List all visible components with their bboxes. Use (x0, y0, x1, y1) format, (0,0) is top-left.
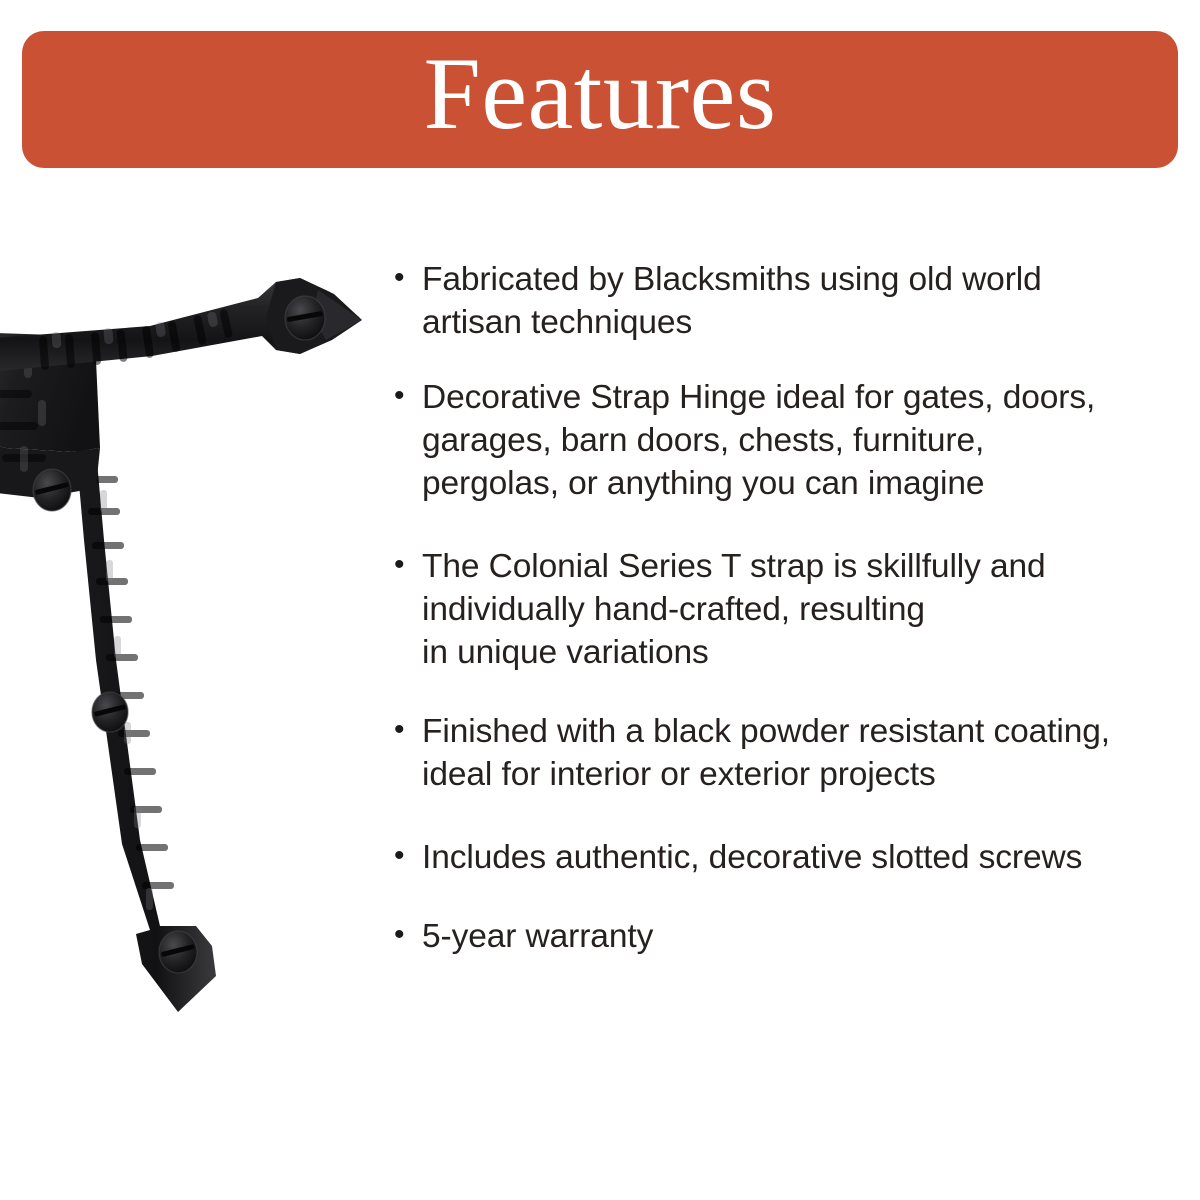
feature-item-text: Decorative Strap Hinge ideal for gates, … (422, 376, 1158, 505)
feature-list-item: • 5-year warranty (388, 915, 1158, 958)
product-image-tstrap-hinge (0, 240, 380, 1040)
bullet-icon: • (388, 710, 422, 750)
feature-list-item: • Fabricated by Blacksmiths using old wo… (388, 258, 1158, 344)
feature-item-text: Includes authentic, decorative slotted s… (422, 836, 1158, 879)
hinge-screw (92, 692, 128, 732)
page-title: Features (424, 43, 777, 146)
features-header-banner: Features (22, 31, 1178, 168)
bullet-icon: • (388, 376, 422, 416)
bullet-icon: • (388, 258, 422, 298)
feature-list-item: • Includes authentic, decorative slotted… (388, 836, 1158, 879)
hinge-screw (285, 296, 325, 340)
feature-item-text: Finished with a black powder resistant c… (422, 710, 1158, 796)
feature-item-text: The Colonial Series T strap is skillfull… (422, 545, 1158, 674)
hinge-screw (159, 931, 197, 973)
feature-list-item: • Finished with a black powder resistant… (388, 710, 1158, 796)
feature-list-item: • Decorative Strap Hinge ideal for gates… (388, 376, 1158, 505)
feature-list: • Fabricated by Blacksmiths using old wo… (388, 258, 1158, 958)
feature-list-item: • The Colonial Series T strap is skillfu… (388, 545, 1158, 674)
bullet-icon: • (388, 545, 422, 585)
hinge-illustration (0, 240, 380, 1040)
bullet-icon: • (388, 915, 422, 955)
bullet-icon: • (388, 836, 422, 876)
feature-item-text: 5-year warranty (422, 915, 1158, 958)
feature-item-text: Fabricated by Blacksmiths using old worl… (422, 258, 1158, 344)
hinge-screw (33, 469, 71, 511)
